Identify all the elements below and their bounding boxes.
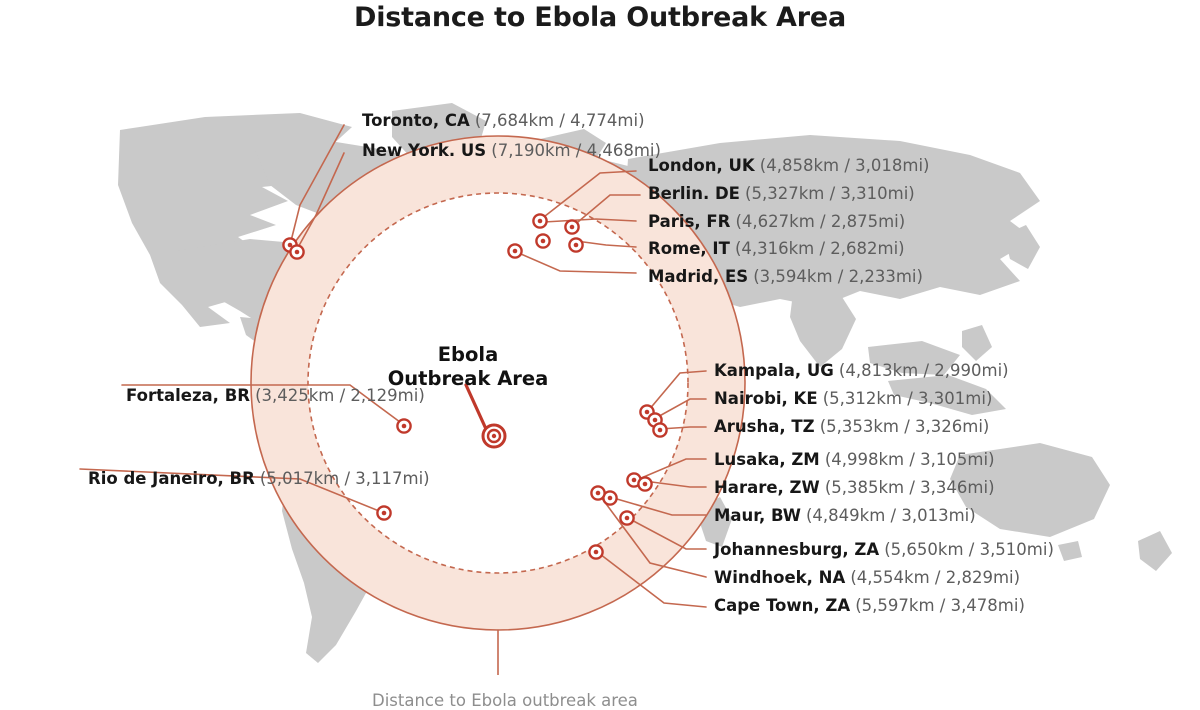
label-rome-city: Rome, IT [648,239,730,258]
label-harare-distance: (5,385km / 3,346mi) [825,478,995,497]
page-title: Distance to Ebola Outbreak Area [0,2,1200,33]
infographic-root: Distance to Ebola Outbreak Area [0,0,1200,675]
marker-harare[interactable] [638,477,651,490]
label-madrid[interactable]: Madrid, ES (3,594km / 2,233mi) [648,269,923,286]
label-kampala-distance: (4,813km / 2,990mi) [839,361,1009,380]
label-harare[interactable]: Harare, ZW (5,385km / 3,346mi) [714,480,995,497]
label-paris-city: Paris, FR [648,212,730,231]
label-nairobi-city: Nairobi, KE [714,389,818,408]
label-berlin[interactable]: Berlin. DE (5,327km / 3,310mi) [648,186,915,203]
label-kampala-city: Kampala, UG [714,361,834,380]
label-fortaleza[interactable]: Fortaleza, BR (3,425km / 2,129mi) [126,388,425,405]
label-johannesburg[interactable]: Johannesburg, ZA (5,650km / 3,510mi) [714,542,1054,559]
marker-paris[interactable] [536,234,549,247]
outbreak-label-line1: Ebola [438,343,499,366]
label-nairobi-distance: (5,312km / 3,301mi) [823,389,993,408]
label-windhoek[interactable]: Windhoek, NA (4,554km / 2,829mi) [714,570,1020,587]
label-johannesburg-city: Johannesburg, ZA [714,540,879,559]
label-toronto-city: Toronto, CA [362,111,470,130]
label-london-distance: (4,858km / 3,018mi) [760,156,930,175]
label-windhoek-distance: (4,554km / 2,829mi) [850,568,1020,587]
label-london[interactable]: London, UK (4,858km / 3,018mi) [648,158,929,175]
label-capetown-city: Cape Town, ZA [714,596,850,615]
label-maur-city: Maur, BW [714,506,801,525]
marker-fortaleza[interactable] [397,419,410,432]
label-rome-distance: (4,316km / 2,682mi) [735,239,905,258]
label-nairobi[interactable]: Nairobi, KE (5,312km / 3,301mi) [714,391,992,408]
marker-windhoek[interactable] [591,486,604,499]
label-paris[interactable]: Paris, FR (4,627km / 2,875mi) [648,214,905,231]
label-newyork-distance: (7,190km / 4,468mi) [491,141,661,160]
marker-london[interactable] [533,214,546,227]
label-maur[interactable]: Maur, BW (4,849km / 3,013mi) [714,508,976,525]
marker-newyork[interactable] [290,245,303,258]
label-arusha-distance: (5,353km / 3,326mi) [820,417,990,436]
label-newyork-city: New York. US [362,141,486,160]
label-lusaka-distance: (4,998km / 3,105mi) [825,450,995,469]
label-rio[interactable]: Rio de Janeiro, BR (5,017km / 3,117mi) [88,471,430,488]
label-toronto-distance: (7,684km / 4,774mi) [475,111,645,130]
outbreak-area-label: Ebola Outbreak Area [384,343,552,391]
marker-rome[interactable] [569,238,582,251]
label-capetown-distance: (5,597km / 3,478mi) [855,596,1025,615]
label-lusaka-city: Lusaka, ZM [714,450,820,469]
label-madrid-city: Madrid, ES [648,267,748,286]
label-berlin-distance: (5,327km / 3,310mi) [745,184,915,203]
label-toronto[interactable]: Toronto, CA (7,684km / 4,774mi) [362,113,645,130]
label-madrid-distance: (3,594km / 2,233mi) [753,267,923,286]
footer-caption: Distance to Ebola outbreak area [372,691,638,710]
label-kampala[interactable]: Kampala, UG (4,813km / 2,990mi) [714,363,1009,380]
marker-capetown[interactable] [589,545,602,558]
label-berlin-city: Berlin. DE [648,184,740,203]
marker-arusha[interactable] [653,423,666,436]
label-fortaleza-distance: (3,425km / 2,129mi) [255,386,425,405]
label-harare-city: Harare, ZW [714,478,820,497]
label-windhoek-city: Windhoek, NA [714,568,845,587]
label-rio-city: Rio de Janeiro, BR [88,469,255,488]
label-paris-distance: (4,627km / 2,875mi) [735,212,905,231]
label-lusaka[interactable]: Lusaka, ZM (4,998km / 3,105mi) [714,452,995,469]
label-fortaleza-city: Fortaleza, BR [126,386,250,405]
label-johannesburg-distance: (5,650km / 3,510mi) [884,540,1054,559]
label-maur-distance: (4,849km / 3,013mi) [806,506,976,525]
label-rome[interactable]: Rome, IT (4,316km / 2,682mi) [648,241,905,258]
label-arusha-city: Arusha, TZ [714,417,815,436]
label-arusha[interactable]: Arusha, TZ (5,353km / 3,326mi) [714,419,989,436]
label-capetown[interactable]: Cape Town, ZA (5,597km / 3,478mi) [714,598,1025,615]
marker-berlin[interactable] [565,220,578,233]
marker-madrid[interactable] [508,244,521,257]
label-rio-distance: (5,017km / 3,117mi) [260,469,430,488]
label-london-city: London, UK [648,156,755,175]
marker-johannesburg[interactable] [620,511,633,524]
label-newyork[interactable]: New York. US (7,190km / 4,468mi) [362,143,661,160]
bullseye-icon-center [492,434,496,438]
marker-rio[interactable] [377,506,390,519]
